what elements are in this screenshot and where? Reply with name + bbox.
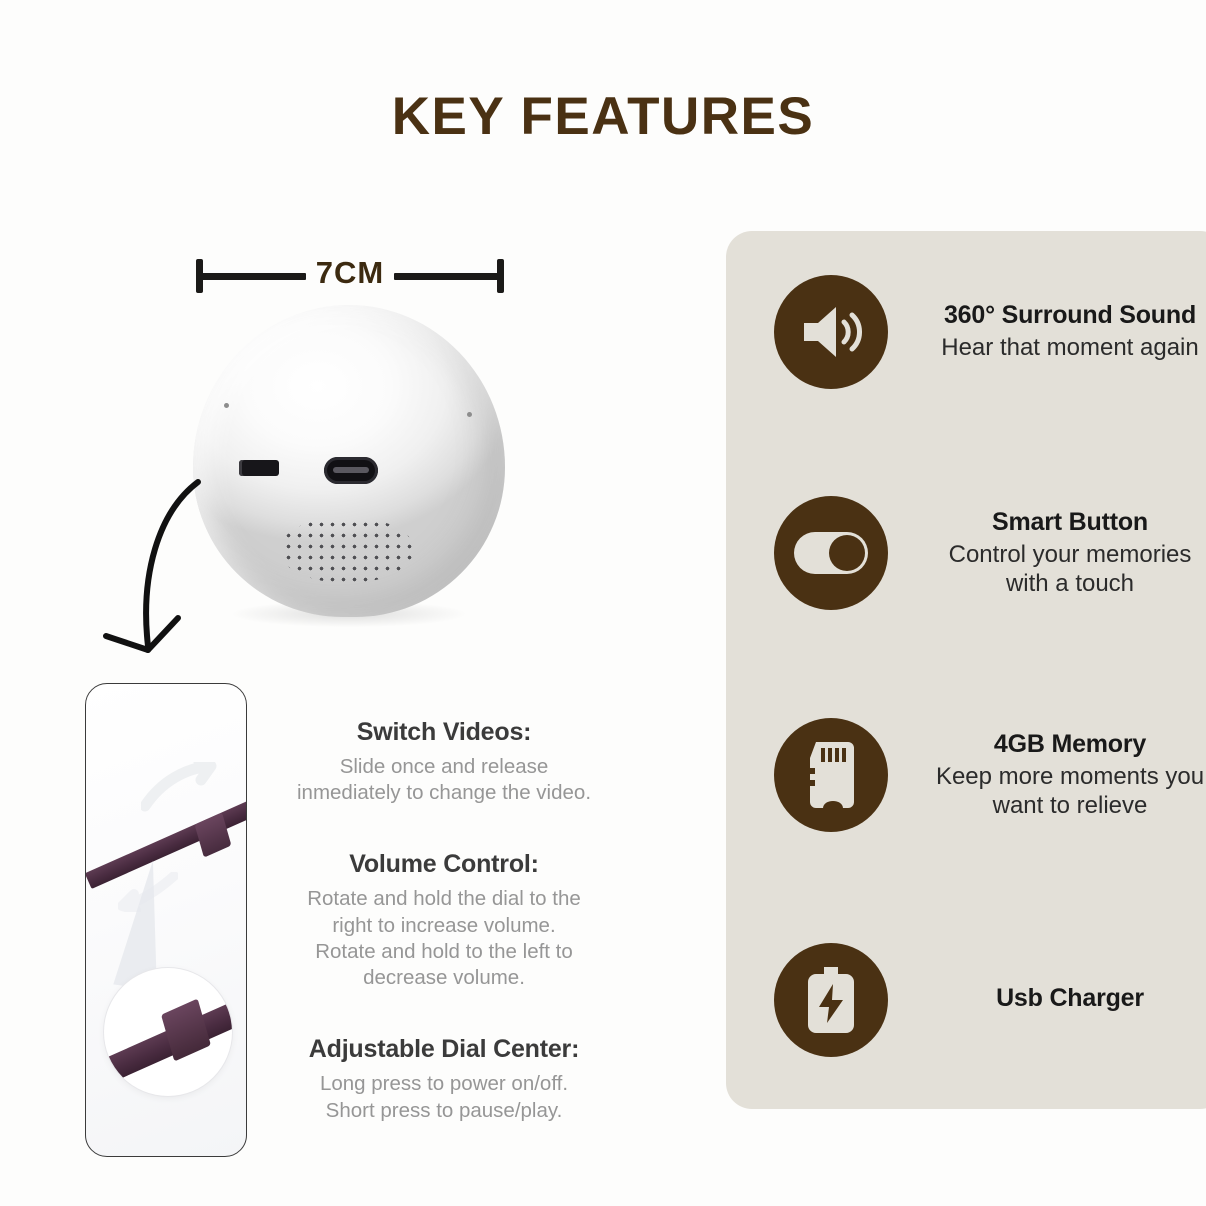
instruction-description: Long press to power on/off. Short press …	[268, 1071, 620, 1123]
dimension-line-right	[394, 273, 502, 280]
instruction-description: Rotate and hold the dial to the right to…	[268, 886, 620, 991]
instruction-line: Long press to power on/off.	[268, 1071, 620, 1097]
feature-subtitle: Control your memorieswith a touch	[924, 540, 1206, 599]
slider-switch	[239, 460, 279, 476]
page-title: KEY FEATURES	[0, 86, 1206, 147]
curved-arrow-icon	[100, 468, 240, 673]
toggle-knob	[829, 535, 865, 571]
toggle-switch-icon	[794, 532, 868, 574]
feature-subtitle: Hear that moment again	[924, 333, 1206, 362]
slide-up-arrow-icon	[141, 762, 219, 812]
feature-text: Smart Button Control your memorieswith a…	[924, 508, 1206, 599]
feature-panel: 360° Surround Sound Hear that moment aga…	[726, 231, 1206, 1109]
slider-demo-photo	[85, 683, 247, 1157]
instruction-title: Volume Control:	[268, 850, 620, 879]
instruction-line: right to increase volume.	[268, 913, 620, 939]
dimension-indicator: 7CM	[190, 255, 510, 299]
speaker-icon	[800, 303, 862, 361]
instruction-adjustable-dial-center: Adjustable Dial Center: Long press to po…	[268, 1035, 620, 1123]
sd-card-icon	[804, 742, 858, 808]
feature-title: Usb Charger	[924, 984, 1206, 1013]
feature-icon-circle	[774, 943, 888, 1057]
feature-item-memory: 4GB Memory Keep more moments youwant to …	[774, 718, 1206, 832]
instruction-title: Switch Videos:	[268, 718, 620, 747]
instructions-list: Switch Videos: Slide once and release in…	[268, 718, 620, 1124]
instruction-description: Slide once and release inmediately to ch…	[268, 754, 620, 806]
instruction-line: Short press to pause/play.	[268, 1098, 620, 1124]
feature-item-smart-button: Smart Button Control your memorieswith a…	[774, 496, 1206, 610]
feature-item-usb-charger: Usb Charger	[774, 943, 1206, 1057]
speaker-grille	[281, 517, 413, 583]
microphone-pinhole-left	[224, 403, 229, 408]
instruction-line: Rotate and hold the dial to the	[268, 886, 620, 912]
instruction-volume-control: Volume Control: Rotate and hold the dial…	[268, 850, 620, 991]
instruction-title: Adjustable Dial Center:	[268, 1035, 620, 1064]
feature-subtitle: Keep more moments youwant to relieve	[924, 762, 1206, 821]
feature-icon-circle	[774, 496, 888, 610]
feature-text: 360° Surround Sound Hear that moment aga…	[924, 301, 1206, 362]
usb-c-port	[324, 457, 378, 484]
feature-title: Smart Button	[924, 508, 1206, 537]
microphone-pinhole-right	[467, 412, 472, 417]
instruction-line: decrease volume.	[268, 965, 620, 991]
feature-icon-circle	[774, 275, 888, 389]
dimension-cap-right	[497, 259, 504, 293]
instruction-switch-videos: Switch Videos: Slide once and release in…	[268, 718, 620, 806]
magnified-detail-circle	[104, 968, 232, 1096]
instruction-line: Rotate and hold to the left to	[268, 939, 620, 965]
feature-title: 360° Surround Sound	[924, 301, 1206, 330]
instruction-line: Slide once and release	[268, 754, 620, 780]
feature-icon-circle	[774, 718, 888, 832]
feature-title: 4GB Memory	[924, 730, 1206, 759]
instruction-line: inmediately to change the video.	[268, 780, 620, 806]
battery-charging-icon	[808, 967, 854, 1033]
feature-item-surround-sound: 360° Surround Sound Hear that moment aga…	[774, 275, 1206, 389]
feature-text: 4GB Memory Keep more moments youwant to …	[924, 730, 1206, 821]
feature-text: Usb Charger	[924, 984, 1206, 1016]
